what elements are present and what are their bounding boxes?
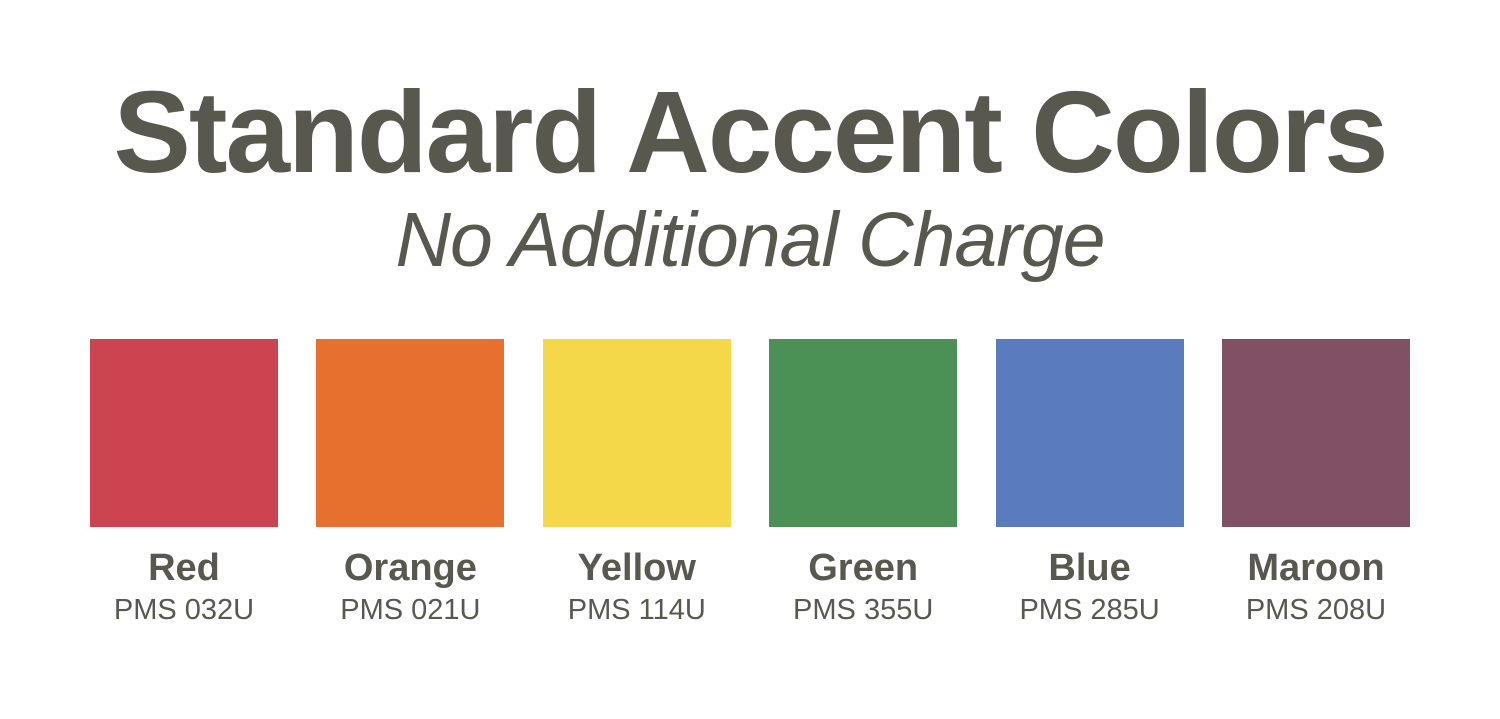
swatch-code-yellow: PMS 114U (568, 595, 706, 625)
swatch-item-red[interactable]: Red PMS 032U (90, 339, 278, 625)
swatch-code-maroon: PMS 208U (1246, 595, 1386, 625)
color-chip-blue[interactable] (996, 339, 1184, 527)
swatch-grid: Red PMS 032U Orange PMS 021U Yellow PMS … (90, 339, 1410, 625)
swatch-name-orange: Orange (344, 549, 477, 589)
swatch-code-green: PMS 355U (793, 595, 933, 625)
color-chip-maroon[interactable] (1222, 339, 1410, 527)
page-subtitle: No Additional Charge (0, 200, 1500, 281)
color-chip-red[interactable] (90, 339, 278, 527)
swatch-name-yellow: Yellow (578, 549, 696, 589)
page-header: Standard Accent Colors No Additional Cha… (0, 74, 1500, 281)
swatch-code-orange: PMS 021U (340, 595, 480, 625)
swatch-name-maroon: Maroon (1247, 549, 1384, 589)
color-chip-orange[interactable] (316, 339, 504, 527)
swatch-item-maroon[interactable]: Maroon PMS 208U (1222, 339, 1410, 625)
color-chip-green[interactable] (769, 339, 957, 527)
swatch-item-green[interactable]: Green PMS 355U (769, 339, 957, 625)
color-swatch-page: Standard Accent Colors No Additional Cha… (0, 0, 1500, 719)
swatch-code-red: PMS 032U (114, 595, 254, 625)
color-chip-yellow[interactable] (543, 339, 731, 527)
swatch-code-blue: PMS 285U (1019, 595, 1159, 625)
swatch-name-green: Green (808, 549, 918, 589)
swatch-item-orange[interactable]: Orange PMS 021U (316, 339, 504, 625)
swatch-item-blue[interactable]: Blue PMS 285U (996, 339, 1184, 625)
swatch-name-red: Red (148, 549, 220, 589)
swatch-name-blue: Blue (1048, 549, 1130, 589)
swatch-item-yellow[interactable]: Yellow PMS 114U (543, 339, 731, 625)
page-title: Standard Accent Colors (0, 74, 1500, 190)
